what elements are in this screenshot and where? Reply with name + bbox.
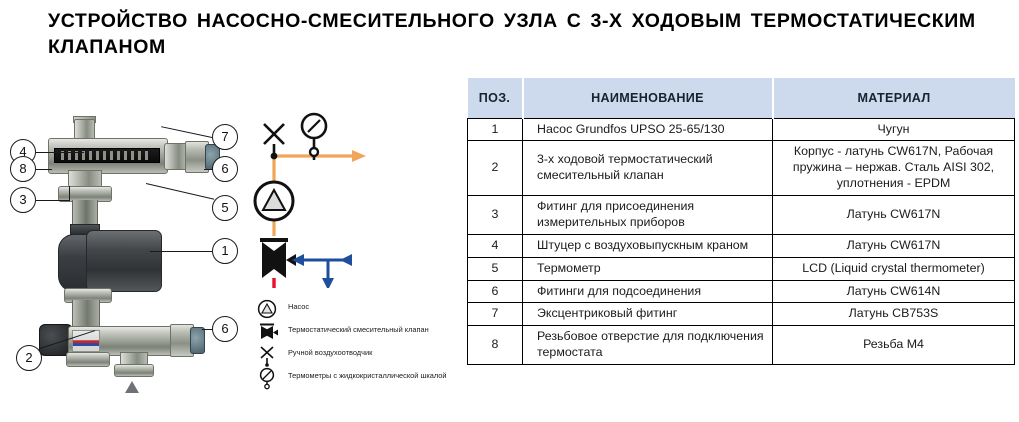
table-row: 3 Фитинг для присоединения измерительных… <box>468 196 1015 235</box>
pump-symbol <box>255 182 293 220</box>
callout-5[interactable]: 5 <box>212 195 238 221</box>
lower-vertical-connector <box>72 300 100 328</box>
legend-label-thermometer: Термометры с жидкокристаллической шкалой <box>288 371 447 380</box>
lcd-thermometer-symbol-schematic <box>302 114 326 160</box>
table-row: 2 3-х ходовой термостатический смеситель… <box>468 141 1015 196</box>
cold-down-arrow-icon <box>322 278 334 288</box>
callout-6-bottom[interactable]: 6 <box>212 316 238 342</box>
cell-position: 7 <box>468 303 523 326</box>
callout-2[interactable]: 2 <box>16 345 42 371</box>
pump-symbol-icon <box>256 298 282 321</box>
legend-item-air-vent: Ручной воздухоотводчик <box>256 344 461 367</box>
pump-flow-arrow-icon <box>125 381 139 393</box>
column-header-name: НАИМЕНОВАНИЕ <box>523 78 773 118</box>
hot-flow-arrow-icon <box>352 150 366 162</box>
cell-material: LCD (Liquid crystal thermometer) <box>773 257 1015 280</box>
page-title: УСТРОЙСТВО НАСОСНО-СМЕСИТЕЛЬНОГО УЗЛА С … <box>48 8 1008 61</box>
legend-item-thermometer: Термометры с жидкокристаллической шкалой <box>256 367 461 390</box>
hydraulic-schematic <box>252 108 392 288</box>
cell-name: Эксцентриковый фитинг <box>523 303 773 326</box>
legend-label-mixing-valve: Термостатический смесительный клапан <box>288 325 429 334</box>
cell-material: Латунь CB753S <box>773 303 1015 326</box>
lower-left-flange <box>66 352 110 367</box>
cell-name: Штуцер с воздуховыпускным краном <box>523 234 773 257</box>
legend-label-pump: Насос <box>288 302 309 311</box>
table-row: 7 Эксцентриковый фитинг Латунь CB753S <box>468 303 1015 326</box>
cell-position: 6 <box>468 280 523 303</box>
cell-name: Фитинги для подсоединения <box>523 280 773 303</box>
table-row: 4 Штуцер с воздуховыпускным краном Латун… <box>468 234 1015 257</box>
legend-item-pump: Насос <box>256 298 461 321</box>
legend: Насос Термостатический смесительный клап… <box>256 298 461 390</box>
leader-line-1 <box>150 251 212 252</box>
cell-position: 5 <box>468 257 523 280</box>
callout-3[interactable]: 3 <box>10 187 36 213</box>
column-header-material: МАТЕРИАЛ <box>773 78 1015 118</box>
thermostatic-mixing-valve-symbol-icon <box>256 321 282 344</box>
cell-position: 8 <box>468 326 523 365</box>
cell-position: 3 <box>468 196 523 235</box>
table-body: 1 Насос Grundfos UPSO 25-65/130 Чугун 2 … <box>468 118 1015 365</box>
leader-line-3b <box>69 186 70 201</box>
table-row: 1 Насос Grundfos UPSO 25-65/130 Чугун <box>468 118 1015 141</box>
callout-1[interactable]: 1 <box>212 238 238 264</box>
cell-material: Латунь CW617N <box>773 234 1015 257</box>
column-header-position: ПОЗ. <box>468 78 523 118</box>
lower-tee-flange <box>114 364 154 377</box>
cell-name: Резьбовое отверстие для подключения терм… <box>523 326 773 365</box>
air-vent-node <box>271 153 278 160</box>
cold-return-arrow-icon <box>340 254 352 266</box>
cell-position: 2 <box>468 141 523 196</box>
connection-fitting-item6-lower <box>190 327 205 354</box>
leader-line-8 <box>36 169 52 170</box>
table-row: 6 Фитинги для подсоединения Латунь CW614… <box>468 280 1015 303</box>
manual-air-vent-symbol <box>264 124 284 153</box>
parts-table: ПОЗ. НАИМЕНОВАНИЕ МАТЕРИАЛ 1 Насос Grund… <box>467 78 1015 365</box>
cell-name: Фитинг для присоединения измерительных п… <box>523 196 773 235</box>
cell-material: Резьба M4 <box>773 326 1015 365</box>
thermostatic-mixing-valve-symbol-schematic <box>260 238 296 278</box>
cell-name: Термометр <box>523 257 773 280</box>
cell-position: 1 <box>468 118 523 141</box>
leader-line-3a <box>36 200 70 201</box>
legend-label-air-vent: Ручной воздухоотводчик <box>288 348 372 357</box>
pump-body-item1 <box>86 230 162 292</box>
lcd-thermometer-symbol-icon <box>256 367 282 390</box>
cell-material: Корпус - латунь CW617N, Рабочая пружина … <box>773 141 1015 196</box>
callout-6-top[interactable]: 6 <box>212 156 238 182</box>
legend-item-mixing-valve: Термостатический смесительный клапан <box>256 321 461 344</box>
manual-air-vent-symbol-icon <box>256 344 282 367</box>
cell-name: 3-х ходовой термостатический смесительны… <box>523 141 773 196</box>
table-header: ПОЗ. НАИМЕНОВАНИЕ МАТЕРИАЛ <box>468 78 1015 118</box>
table-row: 5 Термометр LCD (Liquid crystal thermome… <box>468 257 1015 280</box>
leader-line-4 <box>36 152 84 153</box>
assembly-illustration: 4 8 3 7 6 5 1 6 2 <box>0 108 460 422</box>
callout-8[interactable]: 8 <box>10 156 36 182</box>
cell-position: 4 <box>468 234 523 257</box>
callout-7[interactable]: 7 <box>212 124 238 150</box>
table-header-row: ПОЗ. НАИМЕНОВАНИЕ МАТЕРИАЛ <box>468 78 1015 118</box>
cell-material: Чугун <box>773 118 1015 141</box>
cell-material: Латунь CW617N <box>773 196 1015 235</box>
lcd-thermometer-strip-item5 <box>54 148 160 163</box>
cell-name: Насос Grundfos UPSO 25-65/130 <box>523 118 773 141</box>
table-row: 8 Резьбовое отверстие для подключения те… <box>468 326 1015 365</box>
cell-material: Латунь CW614N <box>773 280 1015 303</box>
